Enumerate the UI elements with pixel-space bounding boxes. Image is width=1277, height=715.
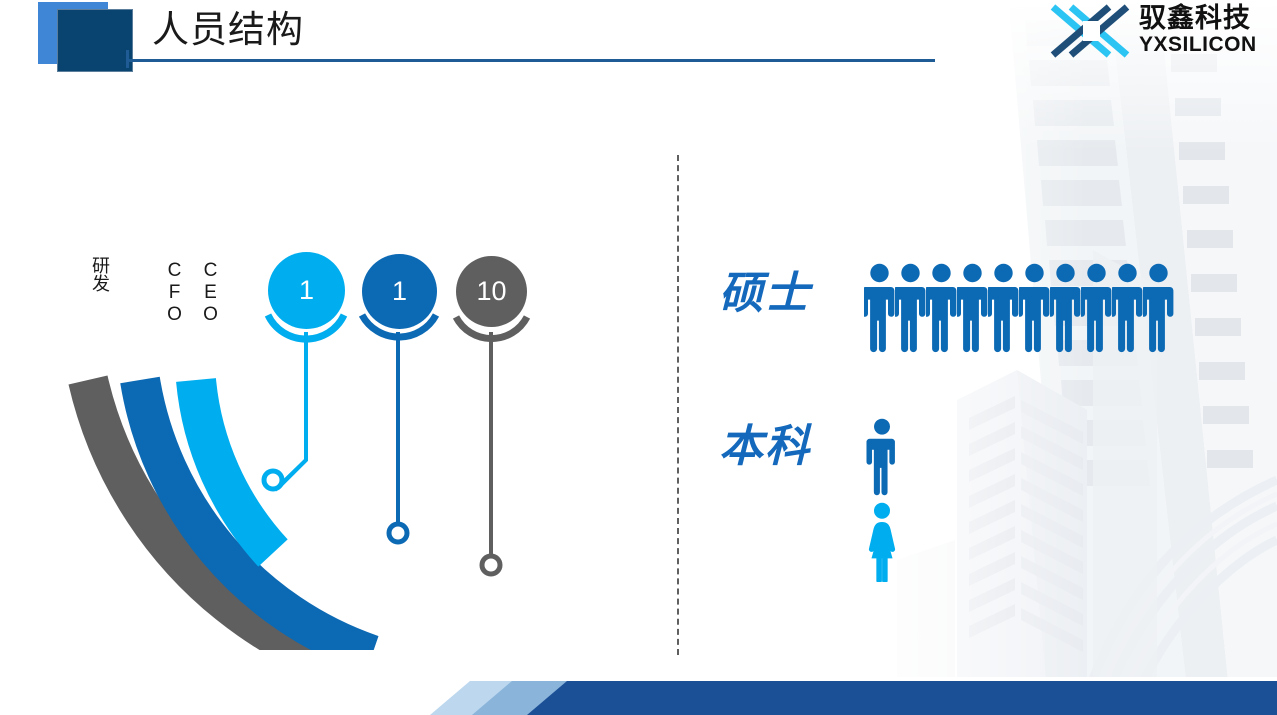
person-male-icon (895, 263, 926, 353)
education-breakdown: 硕士 本科 (700, 150, 1220, 650)
bubble-cfo: 1 (362, 254, 437, 329)
arc-graphic (0, 70, 660, 650)
person-male-icon (865, 418, 899, 496)
org-arc-chart: 研发 CFO CEO 1 (0, 70, 660, 650)
person-male-icon (1112, 263, 1143, 353)
title-rule-tick (126, 50, 129, 68)
bubble-ceo-value: 1 (299, 275, 314, 306)
person-male-icon (957, 263, 988, 353)
logo-name-en: YXSILICON (1139, 33, 1269, 56)
section-divider (677, 155, 679, 655)
people-row-bachelor (864, 418, 900, 582)
slide-root: 人员结构 驭鑫科技 YXSILICON 研发 CFO CEO (0, 0, 1277, 715)
person-male-icon (1081, 263, 1112, 353)
bubble-ceo: 1 (268, 252, 345, 329)
title-underline (128, 59, 935, 62)
page-title: 人员结构 (152, 8, 304, 52)
education-label-bachelor: 本科 (719, 422, 811, 472)
bubble-rd: 10 (456, 256, 527, 327)
logo-name-cn: 驭鑫科技 (1139, 3, 1269, 33)
bubble-cfo-value: 1 (392, 276, 407, 307)
person-male-icon (988, 263, 1019, 353)
education-label-master: 硕士 (719, 269, 811, 319)
company-logo: 驭鑫科技 YXSILICON (1047, 3, 1269, 61)
person-male-icon (1050, 263, 1081, 353)
person-male-icon (926, 263, 957, 353)
person-female-icon (864, 502, 900, 582)
logo-wordmark: 驭鑫科技 YXSILICON (1139, 3, 1269, 56)
person-male-icon (864, 263, 895, 353)
people-row-master (864, 263, 1174, 353)
person-male-icon (1143, 263, 1174, 353)
bubble-rd-value: 10 (476, 276, 506, 307)
footer-bands (0, 655, 1277, 715)
header-square-dark (57, 9, 133, 72)
person-male-icon (1019, 263, 1050, 353)
x-logo-icon (1047, 3, 1135, 59)
footer-band-dark (527, 681, 1277, 715)
